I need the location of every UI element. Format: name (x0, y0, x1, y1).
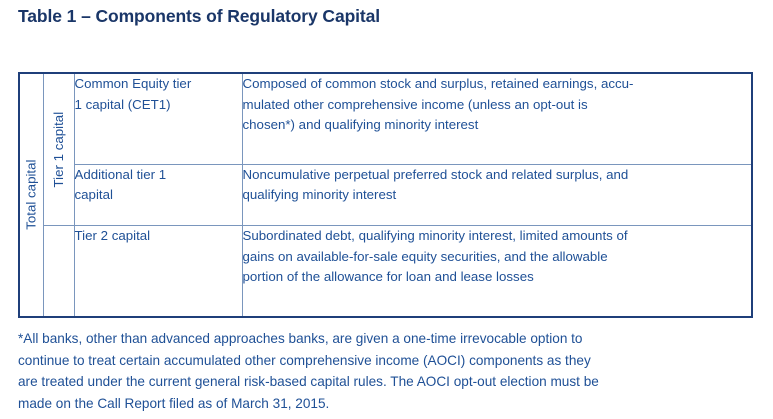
row-name-cell-cet1: Common Equity tier 1 capital (CET1) (74, 74, 242, 164)
total-capital-label: Total capital (25, 160, 38, 230)
row-desc-line: mulated other comprehensive income (unle… (243, 95, 752, 116)
footnote-line: are treated under the current general ri… (18, 371, 760, 393)
row-desc-line: qualifying minority interest (243, 185, 752, 206)
row-desc-cell-tier2: Subordinated debt, qualifying minority i… (242, 226, 751, 316)
row-name-cell-at1: Additional tier 1 capital (74, 164, 242, 225)
row-desc-line: Noncumulative perpetual preferred stock … (243, 165, 752, 186)
page-title: Table 1 – Components of Regulatory Capit… (18, 6, 380, 27)
row-desc-line: chosen*) and qualifying minority interes… (243, 115, 752, 136)
footnote: *All banks, other than advanced approach… (18, 328, 760, 414)
footnote-line: made on the Call Report filed as of Marc… (18, 393, 760, 415)
tier1-capital-label-cell: Tier 1 capital (43, 74, 74, 226)
row-desc-cell-cet1: Composed of common stock and surplus, re… (242, 74, 751, 164)
table-row: Tier 2 capital Subordinated debt, qualif… (20, 226, 751, 316)
row-name-cell-tier2: Tier 2 capital (74, 226, 242, 316)
document-page: Table 1 – Components of Regulatory Capit… (0, 0, 773, 419)
tier1-capital-label: Tier 1 capital (52, 112, 65, 188)
table-row: Total capital Tier 1 capital Common Equi… (20, 74, 751, 164)
row-name-line: Common Equity tier (75, 74, 242, 95)
row-desc-line: gains on available-for-sale equity secur… (243, 247, 752, 268)
row-name-line: 1 capital (CET1) (75, 95, 242, 116)
row-name-line: capital (75, 185, 242, 206)
row-desc-cell-at1: Noncumulative perpetual preferred stock … (242, 164, 751, 225)
row-name-line: Additional tier 1 (75, 165, 242, 186)
regulatory-capital-table: Total capital Tier 1 capital Common Equi… (18, 72, 753, 318)
row-name-line: Tier 2 capital (75, 226, 242, 247)
row-desc-line: Composed of common stock and surplus, re… (243, 74, 752, 95)
capital-components-table: Total capital Tier 1 capital Common Equi… (20, 74, 751, 316)
footnote-line: continue to treat certain accumulated ot… (18, 350, 760, 372)
tier2-spacer-cell (43, 226, 74, 316)
table-row: Additional tier 1 capital Noncumulative … (20, 164, 751, 225)
row-desc-line: portion of the allowance for loan and le… (243, 267, 752, 288)
row-desc-line: Subordinated debt, qualifying minority i… (243, 226, 752, 247)
total-capital-label-cell: Total capital (20, 74, 43, 316)
footnote-line: *All banks, other than advanced approach… (18, 328, 760, 350)
